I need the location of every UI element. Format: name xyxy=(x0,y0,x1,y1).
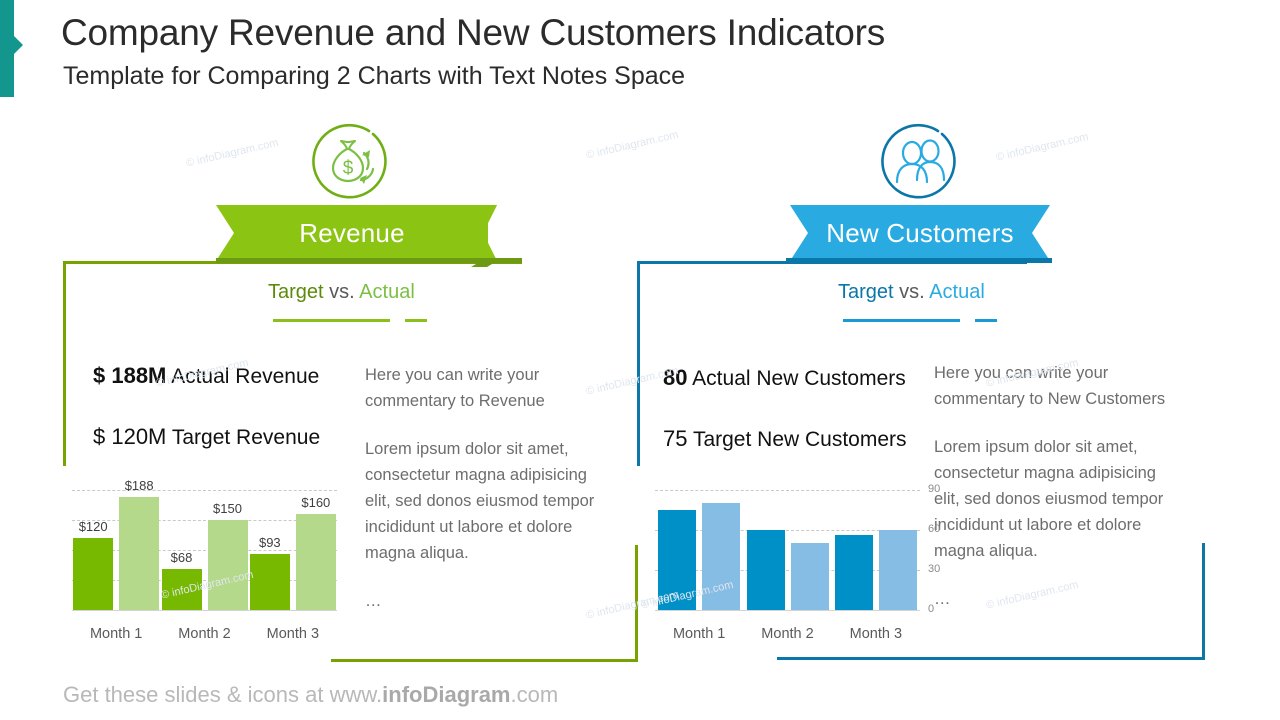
revenue-actual-rule xyxy=(405,319,427,322)
customers-vs-word: vs. xyxy=(899,281,925,303)
revenue-banner-shadow xyxy=(216,258,522,263)
chart-category-label: Month 2 xyxy=(160,626,250,642)
revenue-vs-word: vs. xyxy=(329,281,355,303)
customers-kpi-actual-value: 80 xyxy=(663,365,687,390)
revenue-frame-bottom xyxy=(331,659,638,662)
chart-bar-value-label: $150 xyxy=(198,501,258,516)
customers-chart: 0306090 Month 1Month 2Month 3 xyxy=(655,490,920,645)
revenue-kpi-actual-value: $ 188M xyxy=(93,363,166,388)
revenue-target-word: Target xyxy=(268,281,324,303)
customers-kpi-target-label: Target New Customers xyxy=(693,428,907,451)
customers-frame-left xyxy=(637,261,640,466)
chart-bar-target xyxy=(835,535,873,610)
chart-bar-value-label: $188 xyxy=(109,478,169,493)
chart-bar-target xyxy=(250,554,290,610)
chart-bar-target xyxy=(658,510,696,610)
watermark: © infoDiagram.com xyxy=(585,129,680,162)
revenue-commentary-ellipsis: … xyxy=(365,588,610,614)
chart-bar-value-label: $68 xyxy=(152,550,212,565)
chart-axis-tick-label: 0 xyxy=(928,603,934,615)
chart-bar-actual xyxy=(791,543,829,610)
watermark: © infoDiagram.com xyxy=(995,131,1090,164)
revenue-frame-right xyxy=(635,545,638,662)
watermark: © infoDiagram.com xyxy=(185,137,280,170)
chart-bar-value-label: $93 xyxy=(240,535,300,550)
revenue-commentary[interactable]: Here you can write your commentary to Re… xyxy=(365,362,610,614)
chart-category-label: Month 2 xyxy=(743,626,833,642)
customers-actual-rule xyxy=(975,319,997,322)
revenue-banner-tail xyxy=(425,205,497,261)
customers-banner-shadow xyxy=(786,258,1052,263)
chart-gridline xyxy=(655,490,920,491)
customers-commentary[interactable]: Here you can write your commentary to Ne… xyxy=(934,360,1179,612)
chart-bar-actual xyxy=(879,530,917,610)
customers-target-word: Target xyxy=(838,281,894,303)
customers-commentary-ellipsis: … xyxy=(934,586,1179,612)
chart-axis-tick-label: 90 xyxy=(928,483,940,495)
revenue-chart: $120$188$68$150$93$160 Month 1Month 2Mon… xyxy=(72,490,337,645)
chart-category-label: Month 1 xyxy=(71,626,161,642)
chart-bar-actual xyxy=(208,520,248,610)
revenue-target-vs-actual: Target vs. Actual xyxy=(268,281,415,304)
customers-kpi-actual-label: Actual New Customers xyxy=(692,367,906,390)
money-bag-refresh-icon: $ xyxy=(307,120,395,208)
footer-brand: infoDiagram xyxy=(382,682,510,707)
svg-text:$: $ xyxy=(343,158,354,179)
customers-frame-bottom xyxy=(777,657,1205,660)
chart-bar-actual xyxy=(296,514,336,610)
chart-category-label: Month 1 xyxy=(654,626,744,642)
footer-suffix: .com xyxy=(511,682,559,707)
customers-commentary-body: Lorem ipsum dolor sit amet, consectetur … xyxy=(934,434,1179,564)
customers-banner[interactable]: New Customers xyxy=(790,205,1050,261)
footer-prefix: Get these slides & icons at www. xyxy=(63,682,382,707)
customers-target-vs-actual: Target vs. Actual xyxy=(838,281,985,304)
chart-category-label: Month 3 xyxy=(831,626,921,642)
chart-axis-tick-label: 60 xyxy=(928,523,940,535)
chart-axis-tick-label: 30 xyxy=(928,563,940,575)
chart-bar-actual xyxy=(702,503,740,610)
slide-root: Company Revenue and New Customers Indica… xyxy=(0,0,1280,720)
customers-kpi-actual: 80 Actual New Customers xyxy=(663,365,906,391)
chart-bar-value-label: $120 xyxy=(63,519,123,534)
accent-bar-notch-icon xyxy=(14,36,23,54)
page-subtitle: Template for Comparing 2 Charts with Tex… xyxy=(63,62,685,91)
customers-kpi-target: 75 Target New Customers xyxy=(663,426,907,452)
two-people-icon xyxy=(876,120,964,208)
customers-frame-right xyxy=(1202,543,1205,660)
revenue-target-rule xyxy=(273,319,390,322)
accent-bar xyxy=(0,0,14,97)
chart-bar-target xyxy=(747,530,785,610)
customers-actual-word: Actual xyxy=(929,281,985,303)
revenue-frame-left xyxy=(63,261,66,466)
revenue-kpi-target: $ 120M Target Revenue xyxy=(93,424,320,450)
customers-kpi-target-value: 75 xyxy=(663,426,687,451)
chart-bar-value-label: $160 xyxy=(286,495,346,510)
chart-baseline xyxy=(655,610,920,611)
page-title: Company Revenue and New Customers Indica… xyxy=(61,12,885,54)
chart-bar-target xyxy=(162,569,202,610)
footer-link[interactable]: Get these slides & icons at www.infoDiag… xyxy=(63,682,558,708)
revenue-commentary-body: Lorem ipsum dolor sit amet, consectetur … xyxy=(365,436,610,566)
revenue-kpi-target-label: Target Revenue xyxy=(172,426,320,449)
chart-bar-target xyxy=(73,538,113,610)
revenue-commentary-intro: Here you can write your commentary to Re… xyxy=(365,362,610,414)
revenue-kpi-actual: $ 188M Actual Revenue xyxy=(93,363,319,389)
revenue-kpi-target-value: $ 120M xyxy=(93,424,166,449)
customers-commentary-intro: Here you can write your commentary to Ne… xyxy=(934,360,1179,412)
chart-category-label: Month 3 xyxy=(248,626,338,642)
revenue-kpi-actual-label: Actual Revenue xyxy=(171,365,319,388)
chart-baseline xyxy=(72,610,337,611)
revenue-actual-word: Actual xyxy=(359,281,415,303)
customers-target-rule xyxy=(843,319,960,322)
